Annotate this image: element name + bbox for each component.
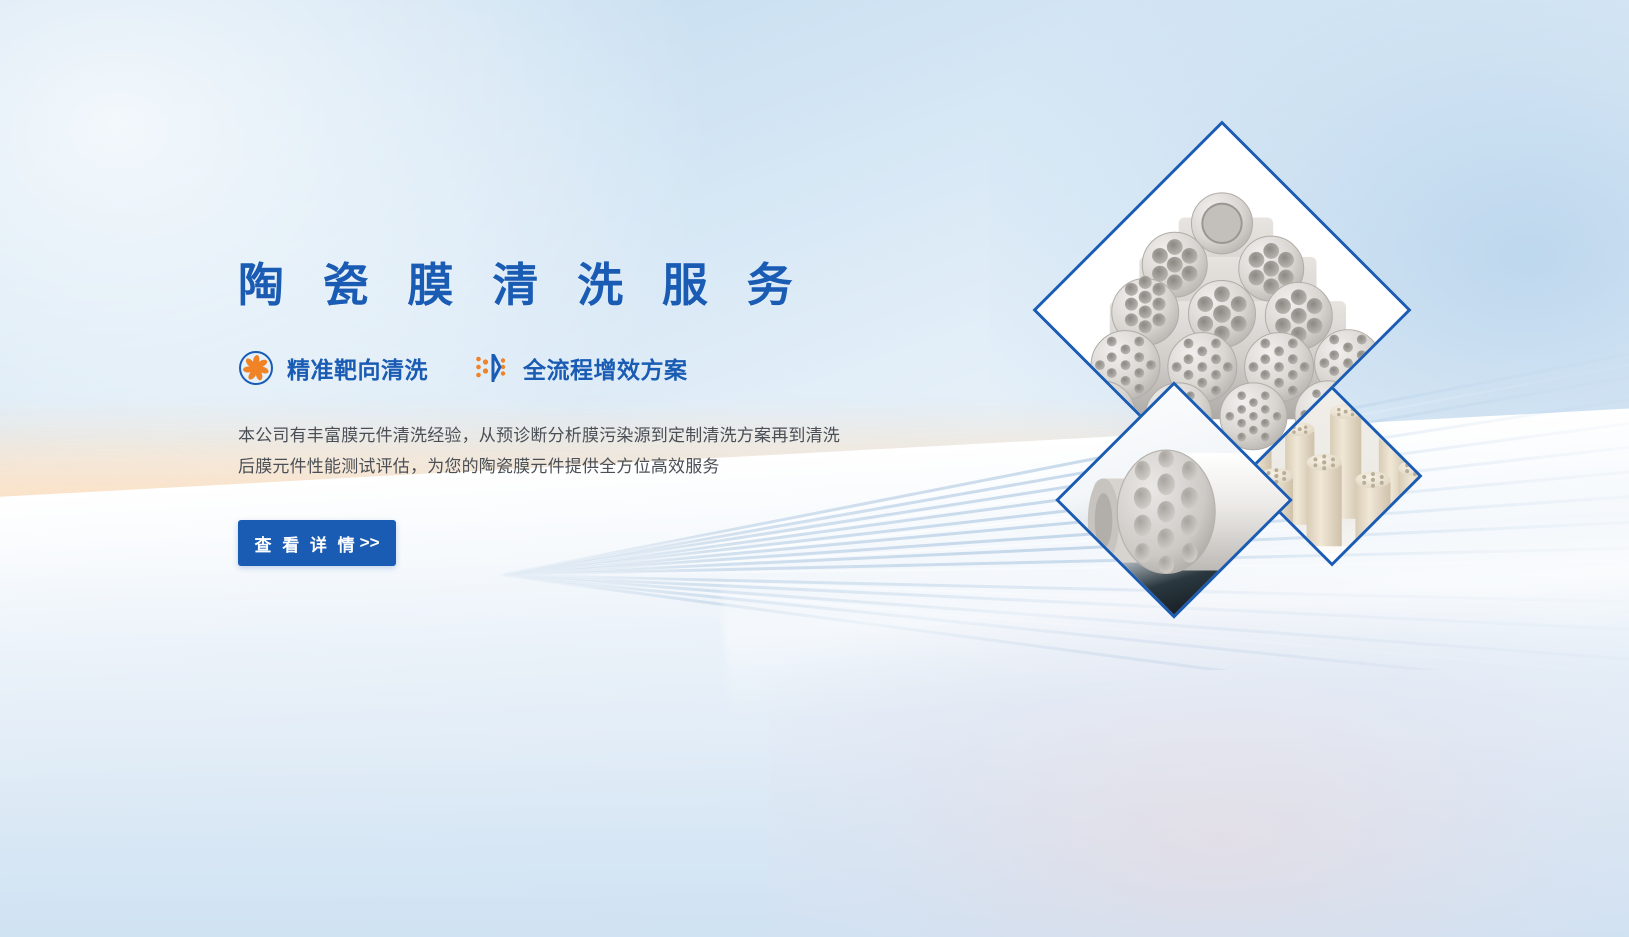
description-line-1: 本公司有丰富膜元件清洗经验，从预诊断分析膜污染源到定制清洗方案再到清洗 [238, 420, 918, 451]
description-line-2: 后膜元件性能测试评估，为您的陶瓷膜元件提供全方位高效服务 [238, 451, 918, 482]
product-photo-gallery [1040, 160, 1460, 650]
hero-banner: 陶 瓷 膜 清 洗 服 务 [0, 0, 1629, 937]
feature-item-full-process[interactable]: 全流程增效方案 [474, 350, 688, 386]
feature-list: 精准靶向清洗 [238, 350, 938, 386]
view-details-button[interactable]: 查 看 详 情 >> [238, 520, 396, 566]
hero-description: 本公司有丰富膜元件清洗经验，从预诊断分析膜污染源到定制清洗方案再到清洗 后膜元件… [238, 420, 918, 482]
feature-label: 全流程增效方案 [523, 351, 688, 385]
view-details-label: 查 看 详 情 [254, 531, 357, 556]
page-title: 陶 瓷 膜 清 洗 服 务 [238, 258, 938, 312]
double-chevron-right-icon: >> [360, 533, 380, 553]
flow-play-icon [474, 350, 510, 386]
hero-content: 陶 瓷 膜 清 洗 服 务 [238, 258, 938, 566]
pinwheel-icon [238, 350, 274, 386]
feature-item-precision-cleaning[interactable]: 精准靶向清洗 [238, 350, 428, 386]
feature-label: 精准靶向清洗 [287, 351, 428, 385]
